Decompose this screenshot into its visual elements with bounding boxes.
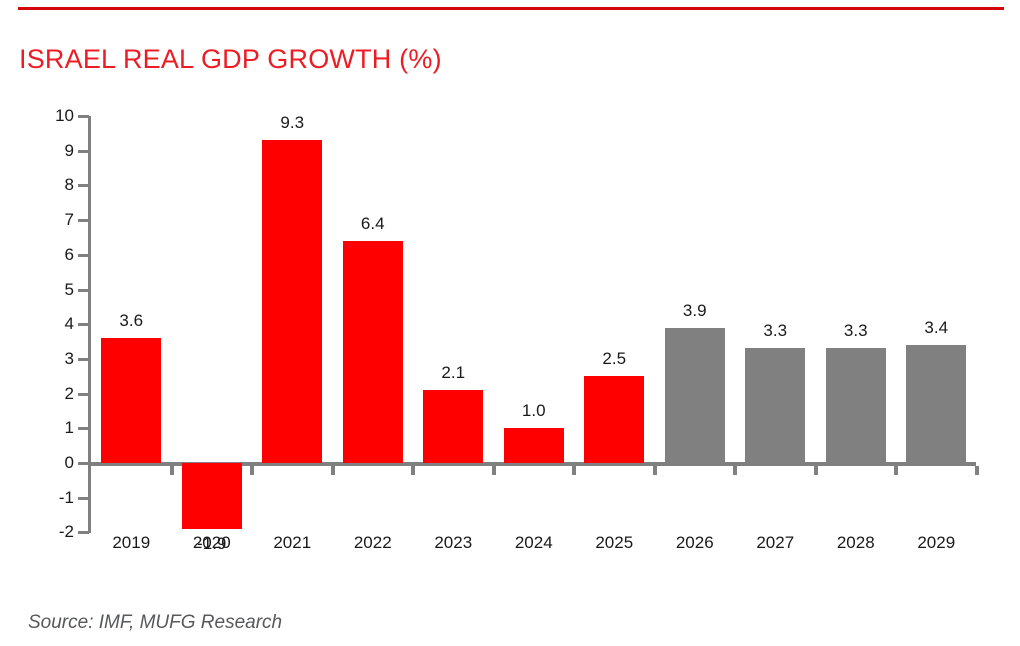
bar-2028[interactable] (826, 348, 886, 463)
x-axis-label-2026: 2026 (650, 534, 740, 551)
bar-value-label-2022: 6.4 (328, 215, 418, 232)
source-note: Source: IMF, MUFG Research (28, 612, 282, 634)
y-axis-tick (78, 289, 89, 292)
x-axis-tick (894, 466, 898, 475)
bar-value-label-2025: 2.5 (569, 350, 659, 367)
x-axis-tick (331, 466, 335, 475)
y-axis-tick (78, 427, 89, 430)
bar-value-label-2028: 3.3 (811, 322, 901, 339)
bar-value-label-2024: 1.0 (489, 402, 579, 419)
x-axis-label-2021: 2021 (247, 534, 337, 551)
y-axis-tick (78, 150, 89, 153)
y-axis-tick (78, 393, 89, 396)
x-axis-label-2019: 2019 (86, 534, 176, 551)
bar-2024[interactable] (504, 428, 564, 463)
bar-value-label-2019: 3.6 (86, 312, 176, 329)
bar-value-label-2021: 9.3 (247, 114, 337, 131)
y-axis-tick (78, 115, 89, 118)
x-axis-tick (411, 466, 415, 475)
y-axis-tick (78, 531, 89, 534)
bar-value-label-2027: 3.3 (730, 322, 820, 339)
bar-2027[interactable] (745, 348, 805, 463)
y-axis-tick (78, 323, 89, 326)
bar-2023[interactable] (423, 390, 483, 463)
x-axis-tick (170, 466, 174, 475)
x-axis-tick (975, 466, 979, 475)
bar-value-label-2023: 2.1 (408, 364, 498, 381)
x-axis-label-2029: 2029 (891, 534, 981, 551)
bar-value-label-2026: 3.9 (650, 302, 740, 319)
x-axis-tick (733, 466, 737, 475)
y-axis-tick (78, 358, 89, 361)
x-axis-label-2025: 2025 (569, 534, 659, 551)
y-axis-tick (78, 184, 89, 187)
x-axis-tick (492, 466, 496, 475)
x-axis-label-2020: 2020 (167, 534, 257, 551)
bar-2021[interactable] (262, 140, 322, 463)
bar-2025[interactable] (584, 376, 644, 463)
x-axis-tick (572, 466, 576, 475)
x-axis-label-2024: 2024 (489, 534, 579, 551)
y-axis-tick (78, 497, 89, 500)
bars-layer: 3.62019-1.920209.320216.420222.120231.02… (0, 0, 1020, 646)
y-axis-tick (78, 254, 89, 257)
bar-2019[interactable] (101, 338, 161, 463)
bar-2020[interactable] (182, 463, 242, 529)
bar-2026[interactable] (665, 328, 725, 463)
bar-chart: 109876543210-1-2 3.62019-1.920209.320216… (0, 0, 1020, 646)
x-axis-label-2022: 2022 (328, 534, 418, 551)
x-axis-tick (250, 466, 254, 475)
bar-2022[interactable] (343, 241, 403, 463)
y-axis-tick (78, 219, 89, 222)
x-axis-tick (653, 466, 657, 475)
bar-2029[interactable] (906, 345, 966, 463)
x-axis-label-2028: 2028 (811, 534, 901, 551)
x-axis-label-2023: 2023 (408, 534, 498, 551)
x-axis-tick (814, 466, 818, 475)
y-axis-tick (78, 462, 89, 465)
bar-value-label-2029: 3.4 (891, 319, 981, 336)
x-axis-label-2027: 2027 (730, 534, 820, 551)
